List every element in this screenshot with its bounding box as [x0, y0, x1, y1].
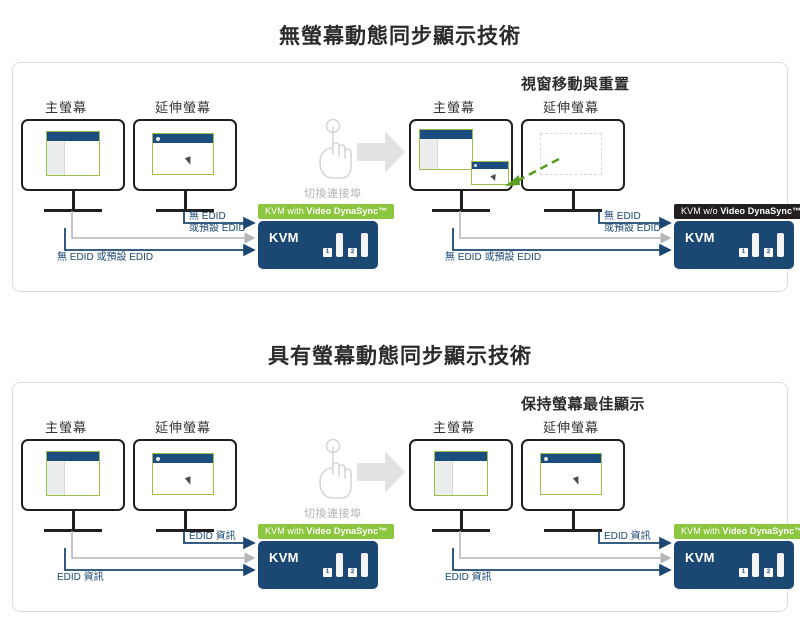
cable-label-no-edid: 無 EDID 或預設 EDID — [189, 211, 246, 235]
kvm-port-indicator — [752, 233, 759, 257]
kvm-logo: KVM — [685, 230, 715, 245]
cable-label-edid-long: EDID 資訊 — [57, 572, 104, 584]
cable-label-no-edid-long: 無 EDID 或預設 EDID — [445, 252, 541, 264]
kvm-port-indicator — [777, 553, 784, 577]
panel1-transition: 切換連接埠 — [301, 63, 411, 293]
section-title-1: 無螢幕動態同步顯示技術 — [0, 20, 800, 50]
kvm-port-number: 2 — [764, 568, 773, 577]
cable-label-no-edid: 無 EDID 或預設 EDID — [604, 211, 661, 235]
cable-label-edid: EDID 資訊 — [189, 531, 236, 543]
panel1-right-group: 視窗移動與重置 主螢幕 延伸螢幕 — [401, 63, 789, 293]
kvm-port-number: 2 — [764, 248, 773, 257]
kvm-badge: KVM w/o Video DynaSync™ — [674, 204, 800, 219]
section-title-2: 具有螢幕動態同步顯示技術 — [0, 340, 800, 370]
kvm-device: KVM 1 2 — [674, 541, 794, 589]
cable-label-edid-long: EDID 資訊 — [445, 572, 492, 584]
kvm-logo: KVM — [685, 550, 715, 565]
kvm-port-indicator — [777, 233, 784, 257]
panel-with-dynasync: 主螢幕 延伸螢幕 — [12, 382, 788, 612]
cable-label-no-edid-long: 無 EDID 或預設 EDID — [57, 252, 153, 264]
cable-label-edid: EDID 資訊 — [604, 531, 651, 543]
kvm-port-number: 1 — [739, 248, 748, 257]
diagram-page: 無螢幕動態同步顯示技術 主螢幕 延伸螢幕 — [0, 0, 800, 640]
panel-no-dynasync: 主螢幕 延伸螢幕 — [12, 62, 788, 292]
kvm-port-indicator — [752, 553, 759, 577]
panel2-transition: 切換連接埠 — [301, 383, 411, 613]
kvm-logo: KVM — [269, 550, 299, 565]
transition-caption: 切換連接埠 — [304, 505, 362, 521]
kvm-port-number: 1 — [739, 568, 748, 577]
kvm-logo: KVM — [269, 230, 299, 245]
right-arrow-icon — [357, 451, 405, 493]
kvm-device: KVM 1 2 — [674, 221, 794, 269]
hand-tap-icon — [311, 438, 357, 500]
hand-tap-icon — [311, 118, 357, 180]
transition-caption: 切換連接埠 — [304, 185, 362, 201]
kvm-badge: KVM with Video DynaSync™ — [674, 524, 800, 539]
panel2-right-group: 保持螢幕最佳顯示 主螢幕 延伸螢幕 — [401, 383, 789, 613]
right-arrow-icon — [357, 131, 405, 173]
